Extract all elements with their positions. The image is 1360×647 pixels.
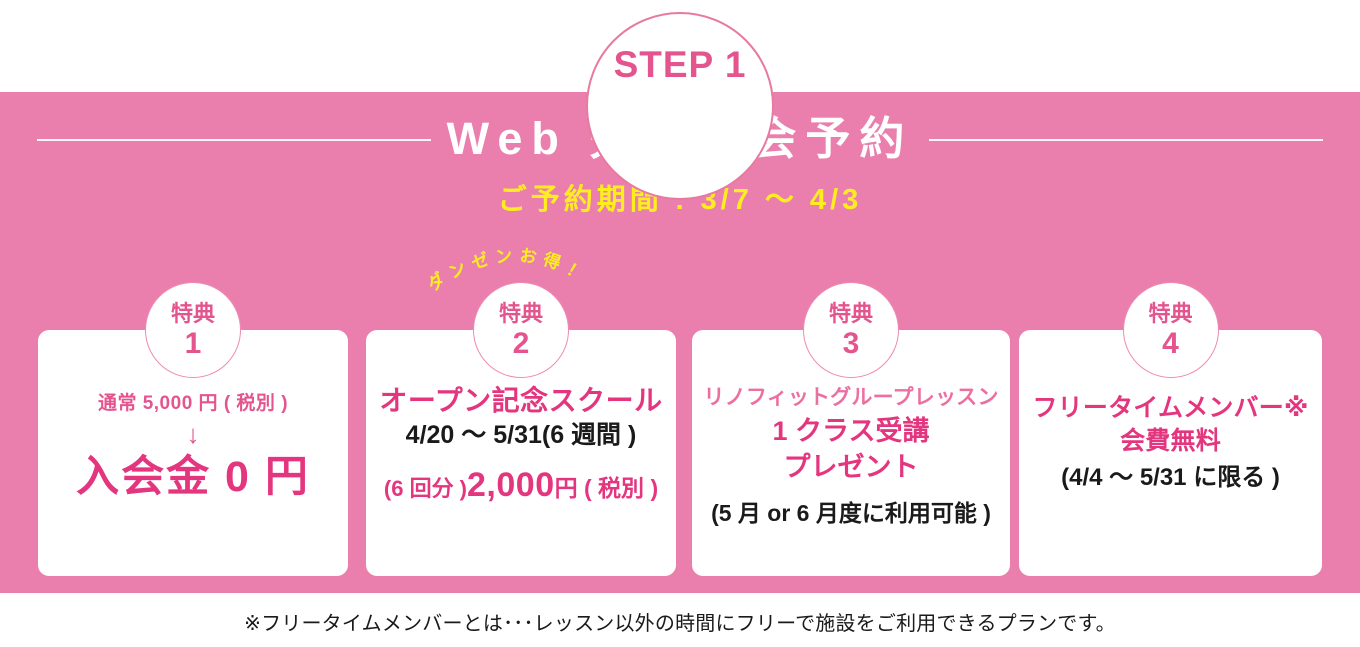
member-note: (4/4 〜 5/31 に限る ) bbox=[1025, 462, 1316, 494]
benefit-card-4-body: フリータイムメンバー※ 会費無料 (4/4 〜 5/31 に限る ) bbox=[1019, 392, 1322, 494]
badge-number: 4 bbox=[1124, 327, 1218, 361]
member-title-line2: 会費無料 bbox=[1025, 425, 1316, 458]
benefit-card-3-body: リノフィットグループレッスン 1 クラス受講 プレゼント (5 月 or 6 月… bbox=[692, 384, 1010, 528]
benefit-badge-1: 特典 1 bbox=[145, 282, 241, 378]
price-value: 2,000 bbox=[467, 466, 555, 504]
badge-number: 2 bbox=[474, 327, 568, 361]
member-title-line1: フリータイムメンバー※ bbox=[1025, 392, 1316, 425]
benefit-badge-2: 特典 2 bbox=[473, 282, 569, 378]
badge-number: 3 bbox=[804, 327, 898, 361]
lesson-sub-line2: プレゼント bbox=[698, 450, 1004, 484]
badge-word: 特典 bbox=[804, 296, 898, 328]
step-badge-label: STEP 1 bbox=[588, 44, 772, 86]
benefit-badge-3: 特典 3 bbox=[803, 282, 899, 378]
benefit-cards: 特典 1 通常 5,000 円 ( 税別 ) ↓ 入会金 0 円 ダ ン ゼ ン… bbox=[0, 330, 1360, 576]
lesson-title: リノフィットグループレッスン bbox=[698, 384, 1004, 412]
school-title: オープン記念スクール bbox=[372, 384, 670, 418]
badge-word: 特典 bbox=[146, 296, 240, 328]
badge-word: 特典 bbox=[1124, 296, 1218, 328]
price-prefix: (6 回分 ) bbox=[384, 476, 467, 501]
lesson-sub-line1: 1 クラス受講 bbox=[698, 414, 1004, 448]
footnote: ※フリータイムメンバーとは･･･レッスン以外の時間にフリーで施設をご利用できるプ… bbox=[0, 607, 1360, 636]
down-arrow-icon: ↓ bbox=[44, 419, 342, 449]
benefit-card-1: 特典 1 通常 5,000 円 ( 税別 ) ↓ 入会金 0 円 bbox=[38, 330, 348, 576]
step-badge: STEP 1 bbox=[586, 12, 774, 200]
benefit-card-3: 特典 3 リノフィットグループレッスン 1 クラス受講 プレゼント (5 月 o… bbox=[692, 330, 1010, 576]
badge-word: 特典 bbox=[474, 296, 568, 328]
benefit-card-4: 特典 4 フリータイムメンバー※ 会費無料 (4/4 〜 5/31 に限る ) bbox=[1019, 330, 1322, 576]
lesson-note: (5 月 or 6 月度に利用可能 ) bbox=[698, 498, 1004, 528]
benefit-badge-4: 特典 4 bbox=[1123, 282, 1219, 378]
normal-price-text: 通常 5,000 円 ( 税別 ) bbox=[44, 388, 342, 415]
entry-fee-highlight: 入会金 0 円 bbox=[44, 451, 342, 503]
school-price: (6 回分 )2,000円 ( 税別 ) bbox=[372, 467, 670, 510]
benefit-card-1-body: 通常 5,000 円 ( 税別 ) ↓ 入会金 0 円 bbox=[38, 388, 348, 503]
benefit-card-2: ダ ン ゼ ン お 得 ！ 特典 2 オープン記念スクール 4/20 〜 5/3… bbox=[366, 330, 676, 576]
badge-number: 1 bbox=[146, 327, 240, 361]
title-rule-right bbox=[929, 139, 1323, 141]
benefit-card-2-body: オープン記念スクール 4/20 〜 5/31(6 週間 ) (6 回分 )2,0… bbox=[366, 384, 676, 510]
title-rule-left bbox=[37, 139, 431, 141]
price-suffix: 円 ( 税別 ) bbox=[555, 475, 659, 501]
school-dates: 4/20 〜 5/31(6 週間 ) bbox=[372, 419, 670, 451]
